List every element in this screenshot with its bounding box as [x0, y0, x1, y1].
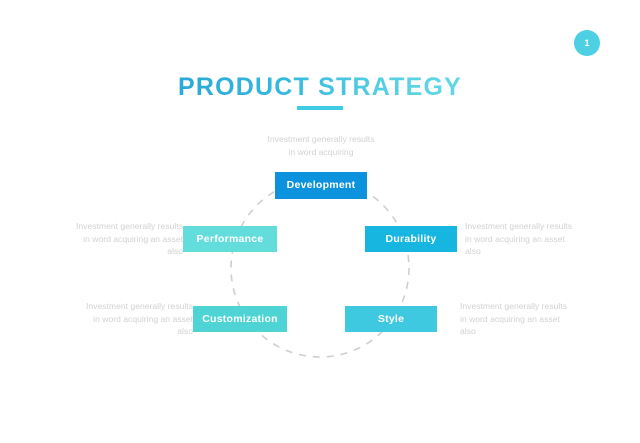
node-box-performance[interactable]: Performance [183, 226, 277, 252]
description-durability: Investment generally results in word acq… [465, 220, 615, 258]
page-title-part1: PRODUCT [178, 73, 318, 101]
slide-canvas: 1 PRODUCT STRATEGY Investment generally … [0, 0, 640, 443]
page-title-part2: STRATEGY [318, 73, 462, 101]
node-box-customization[interactable]: Customization [193, 306, 287, 332]
description-performance: Investment generally results in word acq… [35, 220, 183, 258]
node-box-style[interactable]: Style [345, 306, 437, 332]
title-underline-bar [297, 106, 343, 110]
page-number-badge: 1 [574, 30, 600, 56]
node-box-durability[interactable]: Durability [365, 226, 457, 252]
description-top: Investment generally results in word acq… [241, 133, 401, 158]
description-style: Investment generally results in word acq… [460, 300, 610, 338]
page-title-text: PRODUCT STRATEGY [178, 72, 462, 102]
page-title: PRODUCT STRATEGY [0, 72, 640, 102]
description-customization: Investment generally results in word acq… [45, 300, 193, 338]
node-box-development[interactable]: Development [275, 172, 367, 199]
